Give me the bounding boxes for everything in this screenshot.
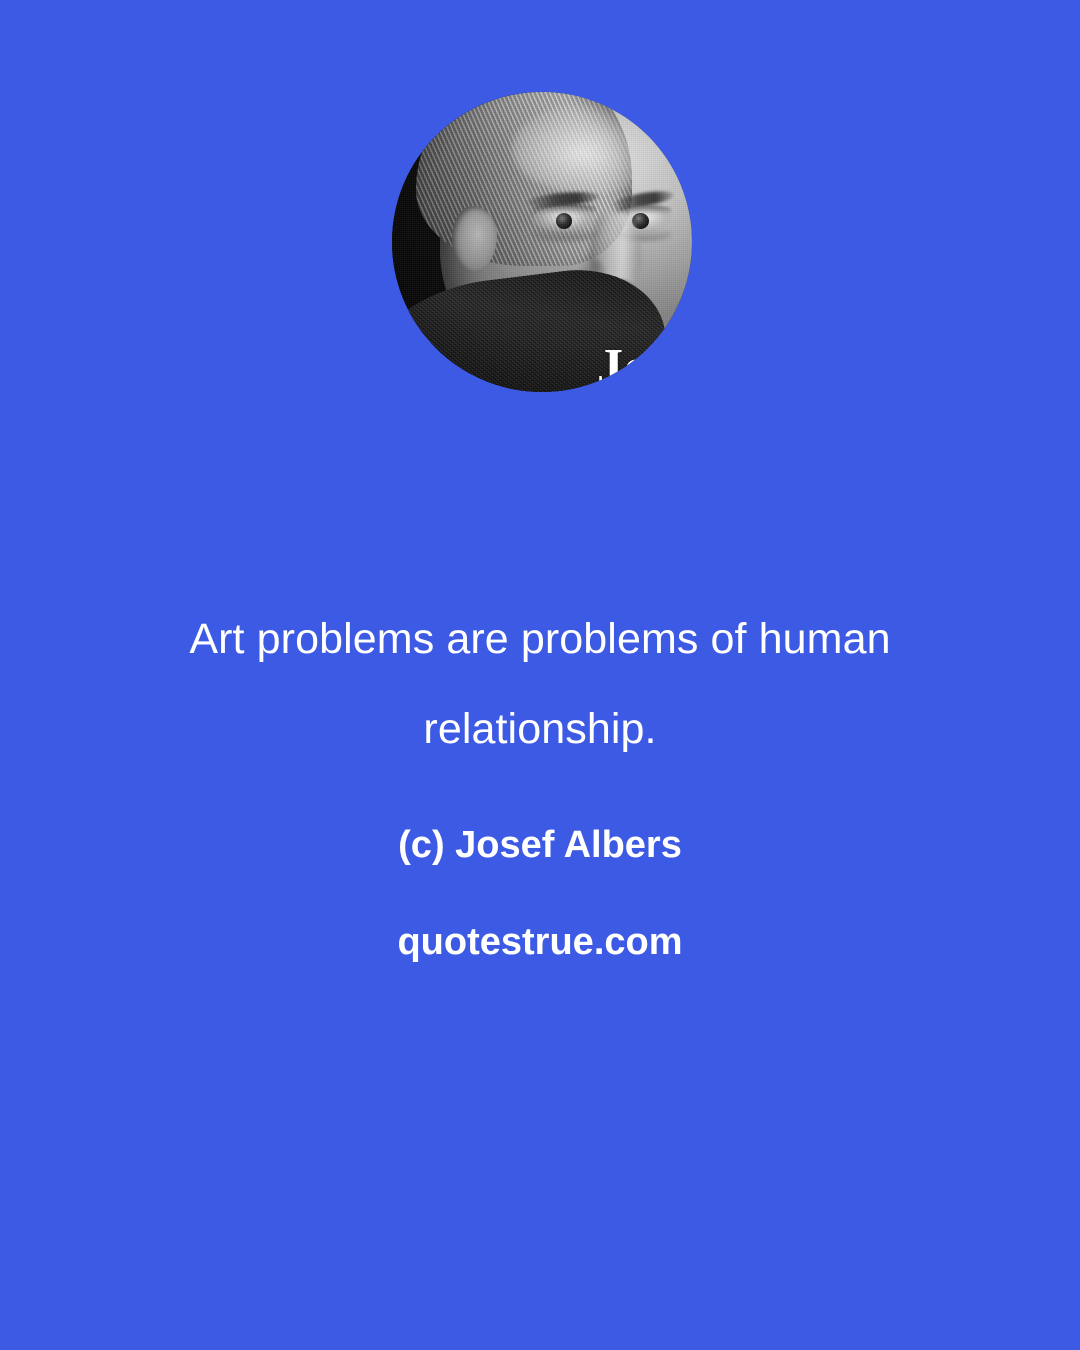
quote-text: Art problems are problems of human relat… <box>90 560 990 774</box>
portrait-iris-right <box>632 213 649 229</box>
portrait-eyebrow-right <box>613 188 674 210</box>
portrait-circle-mask: Jo <box>392 92 692 392</box>
portrait-head <box>440 92 692 386</box>
portrait-forehead-highlight <box>512 104 668 194</box>
portrait-eyelid-left <box>533 204 596 213</box>
quote-card: Jo Art problems are problems of human re… <box>0 0 1080 1350</box>
quote-text-block: Art problems are problems of human relat… <box>0 560 1080 965</box>
portrait-eyelid-right <box>617 205 671 214</box>
portrait-iris-left <box>556 213 573 229</box>
site-footer: quotestrue.com <box>90 919 990 965</box>
portrait-ear <box>452 206 497 272</box>
portrait-watermark-text: Jo <box>597 338 651 392</box>
portrait-eye-left <box>533 206 596 232</box>
portrait-hair <box>416 92 632 266</box>
portrait-nose <box>590 212 641 290</box>
portrait-undereye-left <box>533 229 599 241</box>
author-portrait: Jo <box>392 92 692 392</box>
portrait-cheek-fold <box>560 254 608 320</box>
portrait-nostril <box>605 278 632 289</box>
portrait-eye-right <box>617 206 671 232</box>
portrait-mouth <box>584 309 644 323</box>
portrait-eyebrow-left <box>527 189 600 208</box>
portrait-undereye-right <box>617 229 671 241</box>
quote-attribution: (c) Josef Albers <box>90 822 990 868</box>
